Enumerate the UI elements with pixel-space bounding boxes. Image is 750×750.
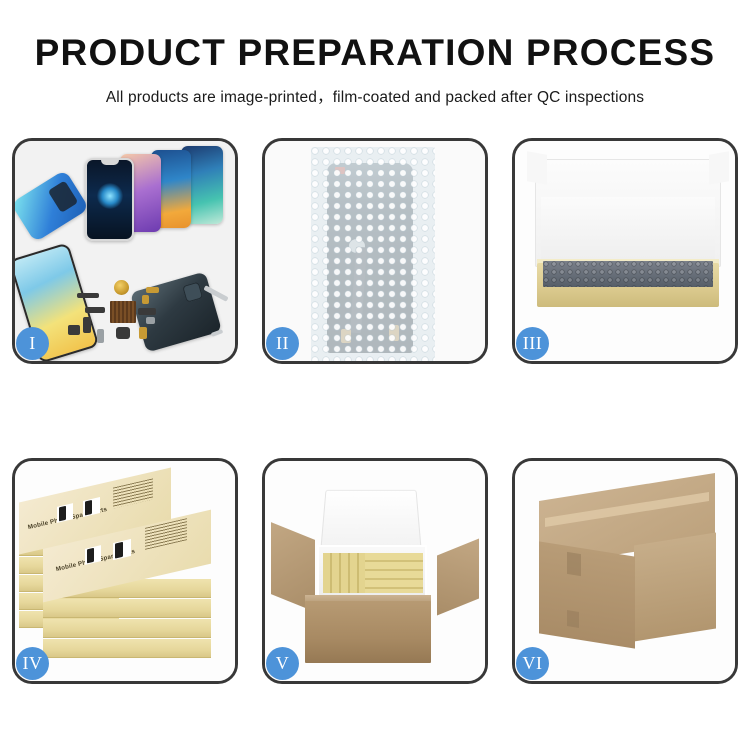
sealed-carton-front-icon (539, 541, 635, 648)
page-title: PRODUCT PREPARATION PROCESS (0, 34, 750, 73)
bracket-part-icon (68, 325, 80, 335)
step-3-image (515, 141, 735, 361)
step-badge-2: II (266, 327, 299, 360)
taptic-engine-part-icon (116, 327, 130, 339)
page-header: PRODUCT PREPARATION PROCESS All products… (0, 0, 750, 107)
carton-body-icon (305, 601, 431, 663)
step-badge-6: VI (516, 647, 549, 680)
step-5-image (265, 461, 485, 681)
step-1-image (15, 141, 235, 361)
antenna-flex-part-icon (85, 307, 105, 313)
side-flex-part-icon (83, 317, 91, 333)
process-step-panel-3: III (512, 138, 738, 364)
screw-set-part-icon (139, 327, 147, 339)
battery-strip-part-icon (77, 293, 99, 298)
bubble-texture (311, 147, 435, 361)
step-badge-5: V (266, 647, 299, 680)
foam-lid-icon (320, 490, 422, 552)
process-step-panel-5: V (262, 458, 488, 684)
process-step-panel-1: I (12, 138, 238, 364)
grey-bubble-wrap-contents-icon (543, 261, 713, 287)
stacked-box-front-3 (43, 619, 211, 637)
step-badge-4: IV (16, 647, 49, 680)
flex-connector-part-icon (146, 287, 159, 293)
box-stack-illustration: Mobile Phone Spare Parts Mobile Phone Sp… (15, 461, 235, 681)
step-4-image: Mobile Phone Spare Parts Mobile Phone Sp… (15, 461, 235, 681)
page-subtitle: All products are image-printed，film-coat… (0, 85, 750, 107)
sealed-carton-side-icon (634, 533, 716, 642)
step-2-image (265, 141, 485, 361)
step-badge-1: I (16, 327, 49, 360)
carton-seam-lower-icon (567, 610, 579, 628)
phone-screen-blue-back-icon (15, 170, 89, 243)
yellow-boxes-row-2-icon (365, 553, 423, 593)
sim-tray-part-icon (97, 329, 104, 343)
step-6-image (515, 461, 735, 681)
carton-flap-right-icon (437, 539, 479, 616)
phone-screen-front-glass-icon (85, 158, 134, 241)
carton-seam-upper-icon (567, 552, 581, 576)
step-badge-3: III (516, 327, 549, 360)
process-step-panel-2: II (262, 138, 488, 364)
camera-flex-part-icon (138, 308, 156, 315)
bubble-wrap-bag-icon (311, 147, 435, 361)
stacked-box-front-4 (43, 639, 211, 657)
stacked-box-front-2 (43, 599, 211, 617)
phone-screens-illustration (15, 141, 235, 361)
process-step-grid: I II III (12, 138, 738, 684)
process-step-panel-6: VI (512, 458, 738, 684)
process-step-panel-4: Mobile Phone Spare Parts Mobile Phone Sp… (12, 458, 238, 684)
speaker-part-icon (114, 280, 129, 295)
button-flex-part-icon (142, 295, 149, 304)
camera-module-part-icon (146, 317, 155, 324)
logic-board-part-icon (110, 301, 136, 323)
